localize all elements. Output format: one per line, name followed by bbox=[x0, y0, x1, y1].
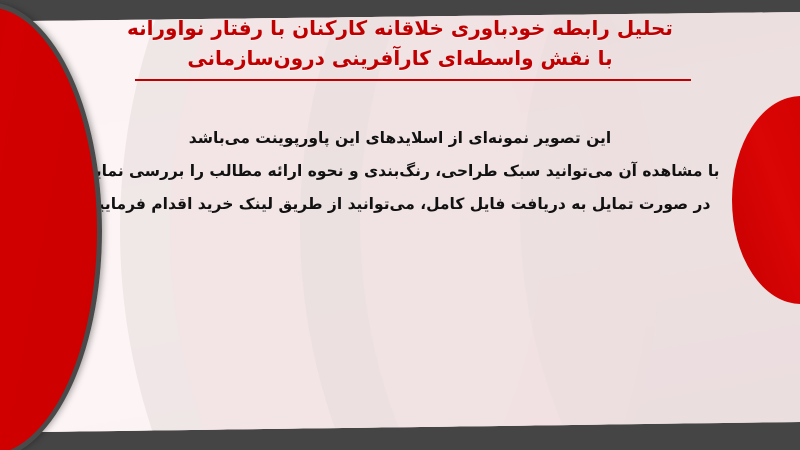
presentation-slide: تحلیل رابطه خودباوری خلاقانه کارکنان با … bbox=[0, 0, 800, 450]
slide-background: تحلیل رابطه خودباوری خلاقانه کارکنان با … bbox=[0, 0, 800, 450]
slide-title-line-1: تحلیل رابطه خودباوری خلاقانه کارکنان با … bbox=[0, 13, 800, 43]
red-ellipse-right-decoration bbox=[732, 96, 800, 304]
title-underline-rule bbox=[135, 79, 691, 81]
slide-body-line-2: با مشاهده آن می‌توانید سبک طراحی، رنگ‌بن… bbox=[60, 155, 740, 188]
slide-title-line-2: با نقش واسطه‌ای کارآفرینی درون‌سازمانی bbox=[0, 43, 800, 73]
slide-body-text: این تصویر نمونه‌ای از اسلایدهای این پاور… bbox=[60, 122, 740, 221]
slide-title: تحلیل رابطه خودباوری خلاقانه کارکنان با … bbox=[0, 13, 800, 73]
slide-body-line-1: این تصویر نمونه‌ای از اسلایدهای این پاور… bbox=[60, 122, 740, 155]
slide-body-line-3: در صورت تمایل به دریافت فایل کامل، می‌تو… bbox=[60, 188, 740, 221]
slide-content-plate: تحلیل رابطه خودباوری خلاقانه کارکنان با … bbox=[0, 0, 800, 450]
